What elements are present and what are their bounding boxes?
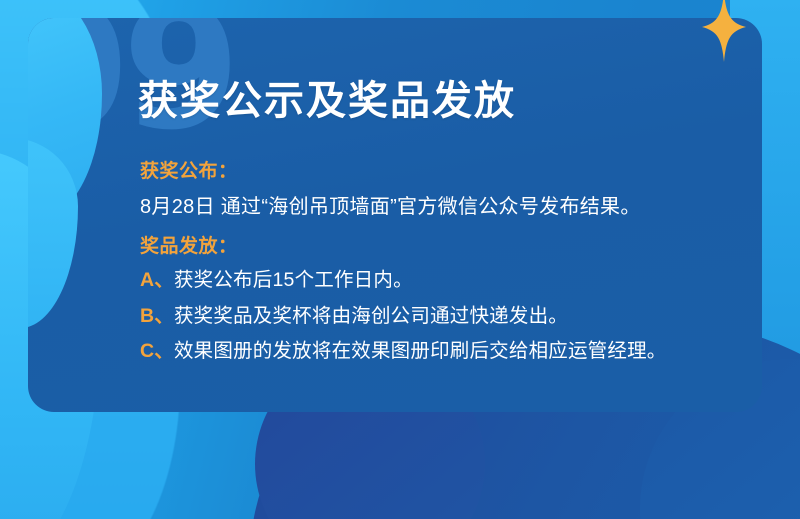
list-item: A、获奖公布后15个工作日内。 [140, 265, 732, 297]
four-point-star-icon [698, 0, 750, 62]
list-marker-c: C、 [140, 340, 174, 362]
section-heading-announcement: 获奖公布： [140, 158, 732, 187]
section-heading-prize-delivery: 奖品发放： [140, 233, 732, 262]
list-item-text-a: 获奖公布后15个工作日内。 [174, 269, 413, 291]
page-title: 获奖公示及奖品发放 [138, 68, 516, 126]
list-marker-a: A、 [140, 269, 174, 291]
card-content: 获奖公示及奖品发放 获奖公布： 8月28日 通过“海创吊顶墙面”官方微信公众号发… [28, 18, 762, 412]
content-card: 09 获奖公示及奖品发放 获奖公布： 8月28日 通过“海创吊顶墙面”官方微信公… [28, 18, 762, 412]
list-item-text-b: 获奖奖品及奖杯将由海创公司通过快递发出。 [174, 305, 568, 327]
list-item: B、获奖奖品及奖杯将由海创公司通过快递发出。 [140, 301, 732, 333]
list-marker-b: B、 [140, 305, 174, 327]
poster-slide: 09 获奖公示及奖品发放 获奖公布： 8月28日 通过“海创吊顶墙面”官方微信公… [0, 0, 800, 519]
list-item-text-c: 效果图册的发放将在效果图册印刷后交给相应运管经理。 [174, 340, 667, 362]
announcement-line: 8月28日 通过“海创吊顶墙面”官方微信公众号发布结果。 [140, 191, 732, 223]
body-text-block: 获奖公布： 8月28日 通过“海创吊顶墙面”官方微信公众号发布结果。 奖品发放：… [140, 158, 732, 372]
list-item: C、效果图册的发放将在效果图册印刷后交给相应运管经理。 [140, 336, 732, 368]
